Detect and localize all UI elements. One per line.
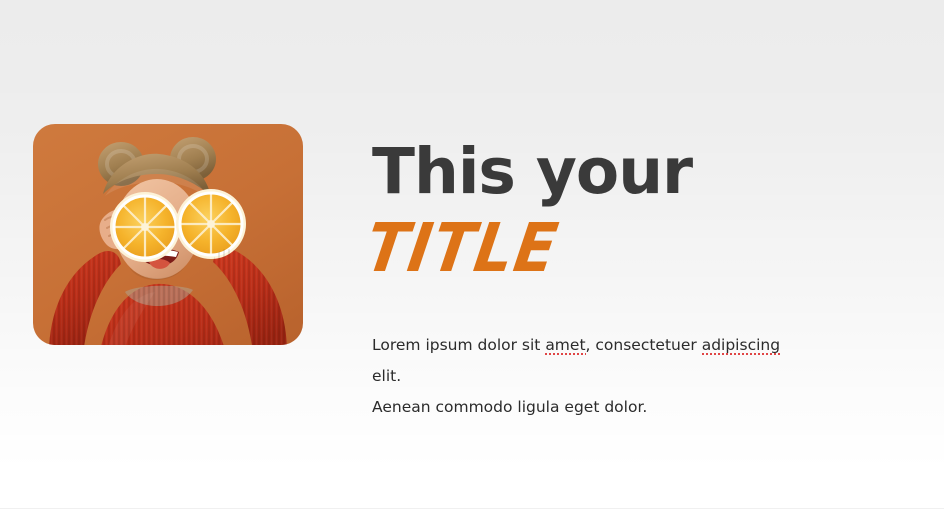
body-text-fragment: , consectetuer	[586, 336, 702, 354]
misspelled-word-amet[interactable]: amet	[545, 336, 585, 356]
headline-line-2: TITLE	[361, 215, 902, 282]
photo-illustration	[33, 124, 303, 399]
bottom-band	[0, 508, 944, 530]
body-paragraph: Lorem ipsum dolor sit amet, consectetuer…	[372, 330, 792, 423]
slide-canvas: This your TITLE Lorem ipsum dolor sit am…	[0, 0, 944, 530]
headline-line-1: This your	[372, 140, 902, 203]
body-text-fragment: elit.	[372, 367, 401, 385]
text-column: This your TITLE Lorem ipsum dolor sit am…	[372, 140, 902, 275]
photo-speech-bubble	[33, 124, 303, 399]
body-text-fragment: Lorem ipsum dolor sit	[372, 336, 545, 354]
body-line-1: Lorem ipsum dolor sit amet, consectetuer…	[372, 330, 792, 392]
misspelled-word-adipiscing[interactable]: adipiscing	[702, 336, 780, 356]
body-line-2: Aenean commodo ligula eget dolor.	[372, 392, 792, 423]
